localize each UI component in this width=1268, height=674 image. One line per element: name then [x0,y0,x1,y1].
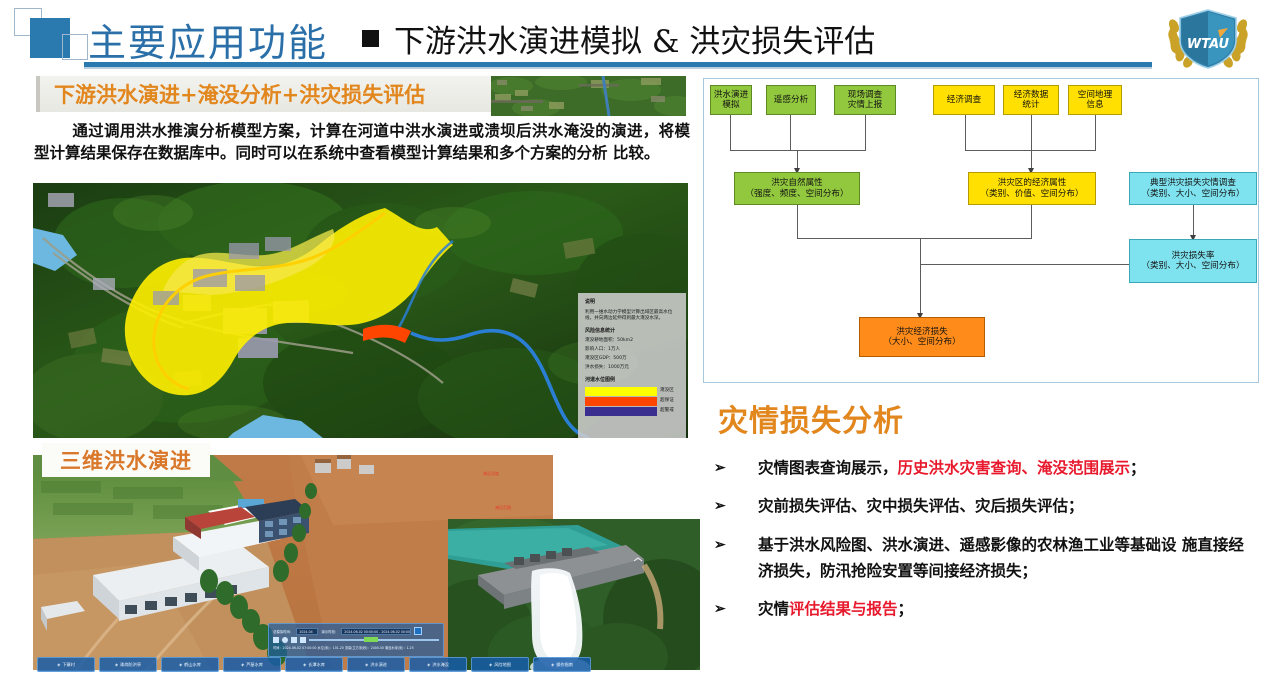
flow-node-line: （强度、频度、空间分布） [745,189,848,199]
player-controls-row [273,637,439,643]
edge-n6-down [1095,115,1096,151]
timeline-slider-handle[interactable] [364,637,378,642]
flow-node-economic-data[interactable]: 经济数据 统计 [1003,85,1059,115]
reservoir-icon: ◈ [241,662,244,667]
nav-button-zhugang[interactable]: ◈珠岗防洪亭 [99,657,157,672]
flow-node-loss-rate[interactable]: 洪灾损失率 （类别、大小、空间分布） [1129,239,1257,283]
nav-button-label: 鹤山水库 [184,662,201,668]
bullet-text-part: 基于洪水风险图、洪水演进、遥感影像的农林渔工业等基础设 施直接经济损失，防汛抢险… [758,535,1244,580]
map-legend-heading: 河道水位图例 [585,377,679,385]
edge-mid-to-n11 [920,238,921,317]
flow-node-economic-survey[interactable]: 经济调查 [933,85,995,115]
timeline-slider[interactable] [309,639,439,641]
left-description-paragraph: 通过调用洪水推演分析模型方案，计算在河道中洪水演进或溃坝后洪水淹没的演进，将模型… [34,120,690,165]
edge-n9-down [1193,205,1194,239]
flow-node-line: 洪灾区的经济属性 [998,178,1067,188]
reservoir-icon: ◈ [303,662,306,667]
map-legend: 淹没区 超保证 超警戒 [585,387,679,416]
page-subtitle: 下游洪水演进模拟 & 洪灾损失评估 [394,16,875,61]
guide-icon: ◈ [551,662,554,667]
right-section-title: 灾情损失分析 [718,396,904,440]
svg-text:淹没范围: 淹没范围 [495,504,511,510]
nav-button-label: 长潭水库 [308,662,325,668]
square-bullet-icon [362,30,379,47]
flow-node-line: 模拟 [722,100,739,110]
legend-item: 淹没区 [585,387,679,396]
bullet-text-part: 灾情 [758,599,789,618]
nav-button-label: 洪水淹没 [432,662,449,668]
nav-button-changtan[interactable]: ◈长潭水库 [285,657,343,672]
player-range-label: 演示时段： [321,629,338,634]
flood-icon: ◈ [365,662,368,667]
bullet-marker-icon: ➢ [714,532,758,558]
map-stat-row: 影响人口：1万人 [585,347,679,354]
bullet-text: 灾情评估结果与报告； [758,596,1259,622]
loss-assessment-flowchart: 洪水演进 模拟 遥感分析 现场调查 灾情上报 经济调查 经济数据 统计 空间地理… [703,78,1259,383]
flow-node-line: 信息 [1086,100,1103,110]
nav-button-label: 洪水演进 [370,662,387,668]
map-3d-caption-text: 三维洪水演进 [60,445,192,475]
skip-forward-icon[interactable] [291,637,297,643]
edge-n8-down [1031,205,1032,239]
flow-node-economic-attributes[interactable]: 洪灾区的经济属性 （类别、价值、空间分布） [968,172,1096,205]
flow-node-line: 洪灾经济损失 [896,327,948,337]
flow-node-line: 洪灾损失率 [1172,251,1215,261]
flow-node-field-survey[interactable]: 现场调查 灾情上报 [834,85,896,115]
left-section-label: 下游洪水演进+淹没分析+洪灾损失评估 [36,76,491,112]
bullet-item: ➢ 基于洪水风险图、洪水演进、遥感影像的农林渔工业等基础设 施直接经济损失，防汛… [714,532,1259,585]
header-thumbnail-image [491,76,686,116]
right-bullet-list: ➢ 灾情图表查询展示，历史洪水灾害查询、淹没范围展示； ➢ 灾前损失评估、灾中损… [714,455,1259,635]
flow-node-line: 统计 [1022,100,1039,110]
edge-n5-down [1031,115,1032,151]
map-info-heading: 说明 [585,299,679,307]
page-header: 主要应用功能 下游洪水演进模拟 & 洪灾损失评估 [0,0,1268,72]
bullet-marker-icon: ➢ [714,493,758,519]
logo-outline-square-bottom [62,34,88,60]
flow-node-line: 灾情上报 [848,100,882,110]
flow-node-line: （类别、大小、空间分布） [1141,189,1244,199]
flow-node-line: 经济调查 [947,95,981,105]
edge-n4-down [965,115,966,151]
flow-node-line: 典型洪灾损失灾情调查 [1150,178,1236,188]
skip-back-icon[interactable] [273,637,279,643]
nav-button-guide[interactable]: ◈操作指南 [533,657,591,672]
nav-button-label: 芦屋水库 [246,662,263,668]
nav-button-label: 操作指南 [556,662,573,668]
bullet-text-part: ； [898,599,914,618]
legend-swatch-over-guarantee [585,397,657,406]
flow-node-remote-sensing[interactable]: 遥感分析 [766,85,816,115]
bullet-text: 灾情图表查询展示，历史洪水灾害查询、淹没范围展示； [758,455,1259,481]
timeline-player-panel[interactable]: 总模拟时间： 2024-04 演示时段： 2024-06-02 00:00:00… [268,623,444,657]
flow-node-spatial-geo-info[interactable]: 空间地理 信息 [1068,85,1122,115]
svg-text:淹没深度: 淹没深度 [483,470,499,476]
flow-node-typical-loss-survey[interactable]: 典型洪灾损失灾情调查 （类别、大小、空间分布） [1129,172,1257,205]
legend-item: 超警戒 [585,407,679,416]
dam-spillway-3d-view[interactable] [448,519,700,674]
flow-node-economic-loss[interactable]: 洪灾经济损失 （大小、空间分布） [859,317,985,357]
bullet-text: 灾前损失评估、灾中损失评估、灾后损失评估； [758,493,1259,519]
edge-mid-bus [797,238,1032,239]
nav-button-risk-map[interactable]: ◈风险地图 [471,657,529,672]
map-icon: ◈ [489,662,492,667]
bullet-marker-icon: ➢ [714,596,758,622]
bullet-text-highlight: 历史洪水灾害查询、淹没范围展示 [898,458,1131,477]
village-icon: ◈ [57,662,60,667]
satellite-flood-map[interactable]: 说明 利用一维水动力学模型计算出域区最高水位线，并向两边延伸得到最大淹没水深。 … [33,183,688,438]
nav-button-xiazhai[interactable]: ◈下寨村 [37,657,95,672]
nav-button-luwu[interactable]: ◈芦屋水库 [223,657,281,672]
map-info-panel: 说明 利用一维水动力学模型计算出域区最高水位线，并向两边延伸得到最大淹没水深。 … [578,293,686,438]
nav-button-flood-routing[interactable]: ◈洪水演进 [347,657,405,672]
edge-n10-to-bus [921,264,1129,265]
bullet-item: ➢ 灾前损失评估、灾中损失评估、灾后损失评估； [714,493,1259,519]
legend-label: 淹没区 [660,388,674,395]
legend-item: 超保证 [585,397,679,406]
legend-swatch-over-warning [585,407,657,416]
play-icon[interactable] [282,637,288,643]
legend-label: 超警戒 [660,408,674,415]
map-stat-row: 洪水损失：1000万元 [585,365,679,372]
map-info-description: 利用一维水动力学模型计算出域区最高水位线，并向两边延伸得到最大淹没水深。 [585,310,679,323]
pavilion-icon: ◈ [115,662,118,667]
bullet-marker-icon: ➢ [714,455,758,481]
bullet-text-highlight: 评估结果与报告 [789,599,898,618]
bullet-text-part: ； [1130,458,1146,477]
map-stat-row: 淹没区GDP：500万 [585,356,679,363]
dam-spillway-image [448,519,700,674]
player-time-label: 总模拟时间： [273,629,293,634]
map-stats-heading: 风险信息统计 [585,328,679,336]
flow-node-line: 遥感分析 [774,95,808,105]
edge-n2-down [790,115,791,151]
nav-button-label: 风险地图 [494,662,511,668]
player-time-value[interactable]: 2024-04 [296,628,318,635]
page-title: 主要应用功能 [88,12,328,67]
flow-node-line: 现场调查 [848,90,882,100]
flow-node-line: （类别、价值、空间分布） [980,189,1083,199]
inundation-icon: ◈ [427,662,430,667]
wtau-logo-text: WTAU [1187,37,1230,52]
bullet-text-part: 灾前损失评估、灾中损失评估、灾后损失评估； [758,496,1084,515]
flow-node-line: 经济数据 [1014,90,1048,100]
left-section-label-text: 下游洪水演进+淹没分析+洪灾损失评估 [54,79,425,109]
bullet-item: ➢ 灾情评估结果与报告； [714,596,1259,622]
refresh-icon[interactable] [414,627,422,635]
legend-swatch-inundation [585,387,657,396]
nav-button-heshan[interactable]: ◈鹤山水库 [161,657,219,672]
reservoir-icon: ◈ [179,662,182,667]
flow-node-line: （类别、大小、空间分布） [1141,261,1244,271]
edge-n7-down [797,205,798,239]
left-description-text: 通过调用洪水推演分析模型方案，计算在河道中洪水演进或溃坝后洪水淹没的演进，将模型… [34,121,690,162]
player-time-row: 总模拟时间： 2024-04 演示时段： 2024-06-02 00:00:00… [273,627,439,635]
3d-view-nav-buttons[interactable]: ◈下寨村 ◈珠岗防洪亭 ◈鹤山水库 ◈芦屋水库 ◈长潭水库 ◈洪水演进 ◈洪水淹… [33,655,553,674]
map-stat-row: 淹没耕地面积：50km2 [585,338,679,345]
flow-node-line: 洪灾自然属性 [771,178,823,188]
bullet-text-part: 灾情图表查询展示， [758,458,898,477]
player-status-text: 时间：2024-06-02 07:00:00 水位(米)：101.20 流量(立… [273,645,439,650]
stop-icon[interactable] [300,637,306,643]
bullet-item: ➢ 灾情图表查询展示，历史洪水灾害查询、淹没范围展示； [714,455,1259,481]
header-divider-thin [84,67,1152,69]
edge-n1-down [730,115,731,151]
flow-node-line: （大小、空间分布） [883,337,960,347]
bullet-text: 基于洪水风险图、洪水演进、遥感影像的农林渔工业等基础设 施直接经济损失，防汛抢险… [758,532,1259,585]
nav-button-label: 珠岗防洪亭 [120,662,141,668]
flow-node-line: 空间地理 [1078,90,1112,100]
map-3d-caption: 三维洪水演进 [42,443,210,477]
nav-button-inundation[interactable]: ◈洪水淹没 [409,657,467,672]
edge-n3-down [865,115,866,151]
wtau-logo: WTAU [1160,2,1256,74]
flow-node-natural-attributes[interactable]: 洪灾自然属性 （强度、频度、空间分布） [734,172,860,205]
legend-label: 超保证 [660,398,674,405]
player-range-value[interactable]: 2024-06-02 00:00:00 - 2024-06-02 00:00:0… [341,628,411,635]
flow-node-flood-routing-sim[interactable]: 洪水演进 模拟 [710,85,752,115]
nav-button-label: 下寨村 [62,662,75,668]
flow-node-line: 洪水演进 [714,90,748,100]
